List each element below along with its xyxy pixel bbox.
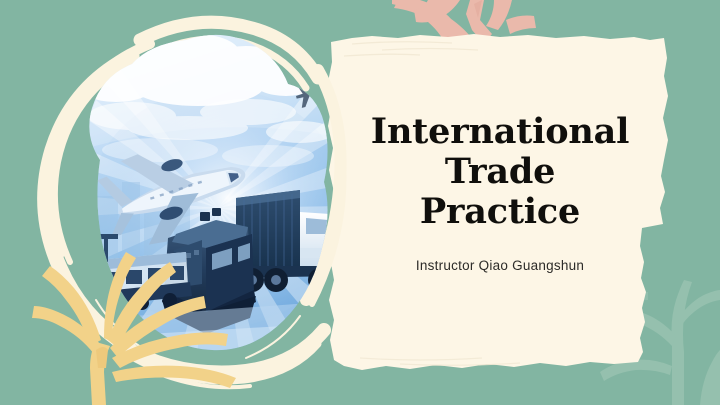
title-line-3: Practice bbox=[350, 192, 650, 232]
title-line-2: Trade bbox=[350, 152, 650, 192]
instructor-subtitle: Instructor Qiao Guangshun bbox=[350, 258, 650, 273]
page-title: International Trade Practice bbox=[350, 112, 650, 232]
title-line-1: International bbox=[350, 112, 650, 152]
presentation-slide: International Trade Practice Instructor … bbox=[0, 0, 720, 405]
